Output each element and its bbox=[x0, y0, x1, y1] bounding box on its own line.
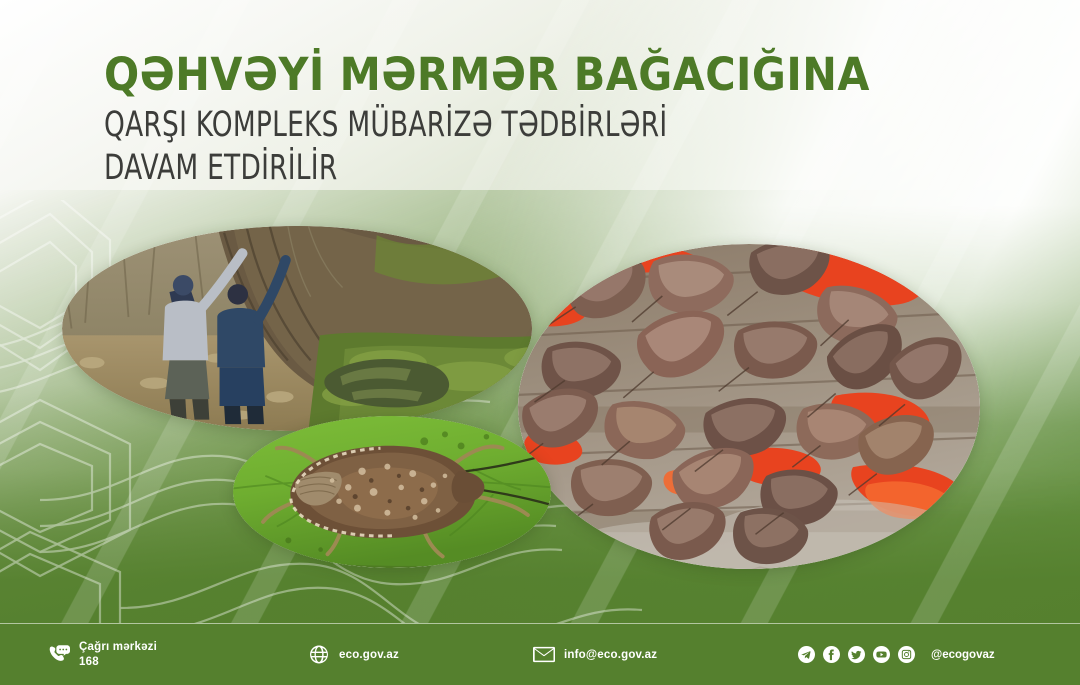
footer-email[interactable]: info@eco.gov.az bbox=[533, 645, 657, 664]
photo-tree-treatment bbox=[62, 226, 532, 431]
photo-stink-bug-leaf bbox=[233, 416, 551, 568]
youtube-icon[interactable] bbox=[873, 646, 890, 663]
footer-call-center[interactable]: Çağrı mərkəzi 168 bbox=[48, 640, 157, 669]
footer-social-handle: @ecogovaz bbox=[931, 649, 995, 661]
footer-bar: Çağrı mərkəzi 168 eco.gov.az info@eco.go… bbox=[0, 623, 1080, 685]
headline-line-3: DAVAM ETDİRİLİR bbox=[104, 151, 843, 186]
footer-call-center-text: Çağrı mərkəzi 168 bbox=[79, 640, 157, 669]
headline-block: QƏHVƏYİ MƏRMƏR BAĞACIĞINA QARŞI KOMPLEKS… bbox=[104, 52, 984, 186]
telegram-icon[interactable] bbox=[798, 646, 815, 663]
envelope-icon bbox=[533, 645, 555, 664]
footer-email-label: info@eco.gov.az bbox=[564, 649, 657, 661]
photo-tree-treatment-image bbox=[62, 226, 532, 431]
headline-line-2: QARŞI KOMPLEKS MÜBARİZƏ TƏDBİRLƏRİ bbox=[104, 108, 843, 143]
footer-website-label: eco.gov.az bbox=[339, 649, 399, 661]
footer-call-center-number: 168 bbox=[79, 656, 99, 668]
headline-line-1: QƏHVƏYİ MƏRMƏR BAĞACIĞINA bbox=[104, 52, 914, 97]
footer-website[interactable]: eco.gov.az bbox=[308, 645, 399, 664]
footer-call-center-label: Çağrı mərkəzi bbox=[79, 641, 157, 653]
poster-canvas: QƏHVƏYİ MƏRMƏR BAĞACIĞINA QARŞI KOMPLEKS… bbox=[0, 0, 1080, 685]
photo-stink-bug-mass bbox=[518, 244, 980, 569]
phone-chat-icon bbox=[48, 645, 70, 664]
facebook-icon[interactable] bbox=[823, 646, 840, 663]
photo-stink-bug-mass-image bbox=[518, 244, 980, 569]
twitter-icon[interactable] bbox=[848, 646, 865, 663]
globe-icon bbox=[308, 645, 330, 664]
instagram-icon[interactable] bbox=[898, 646, 915, 663]
footer-social: @ecogovaz bbox=[798, 646, 995, 663]
photo-stink-bug-leaf-image bbox=[233, 416, 551, 568]
